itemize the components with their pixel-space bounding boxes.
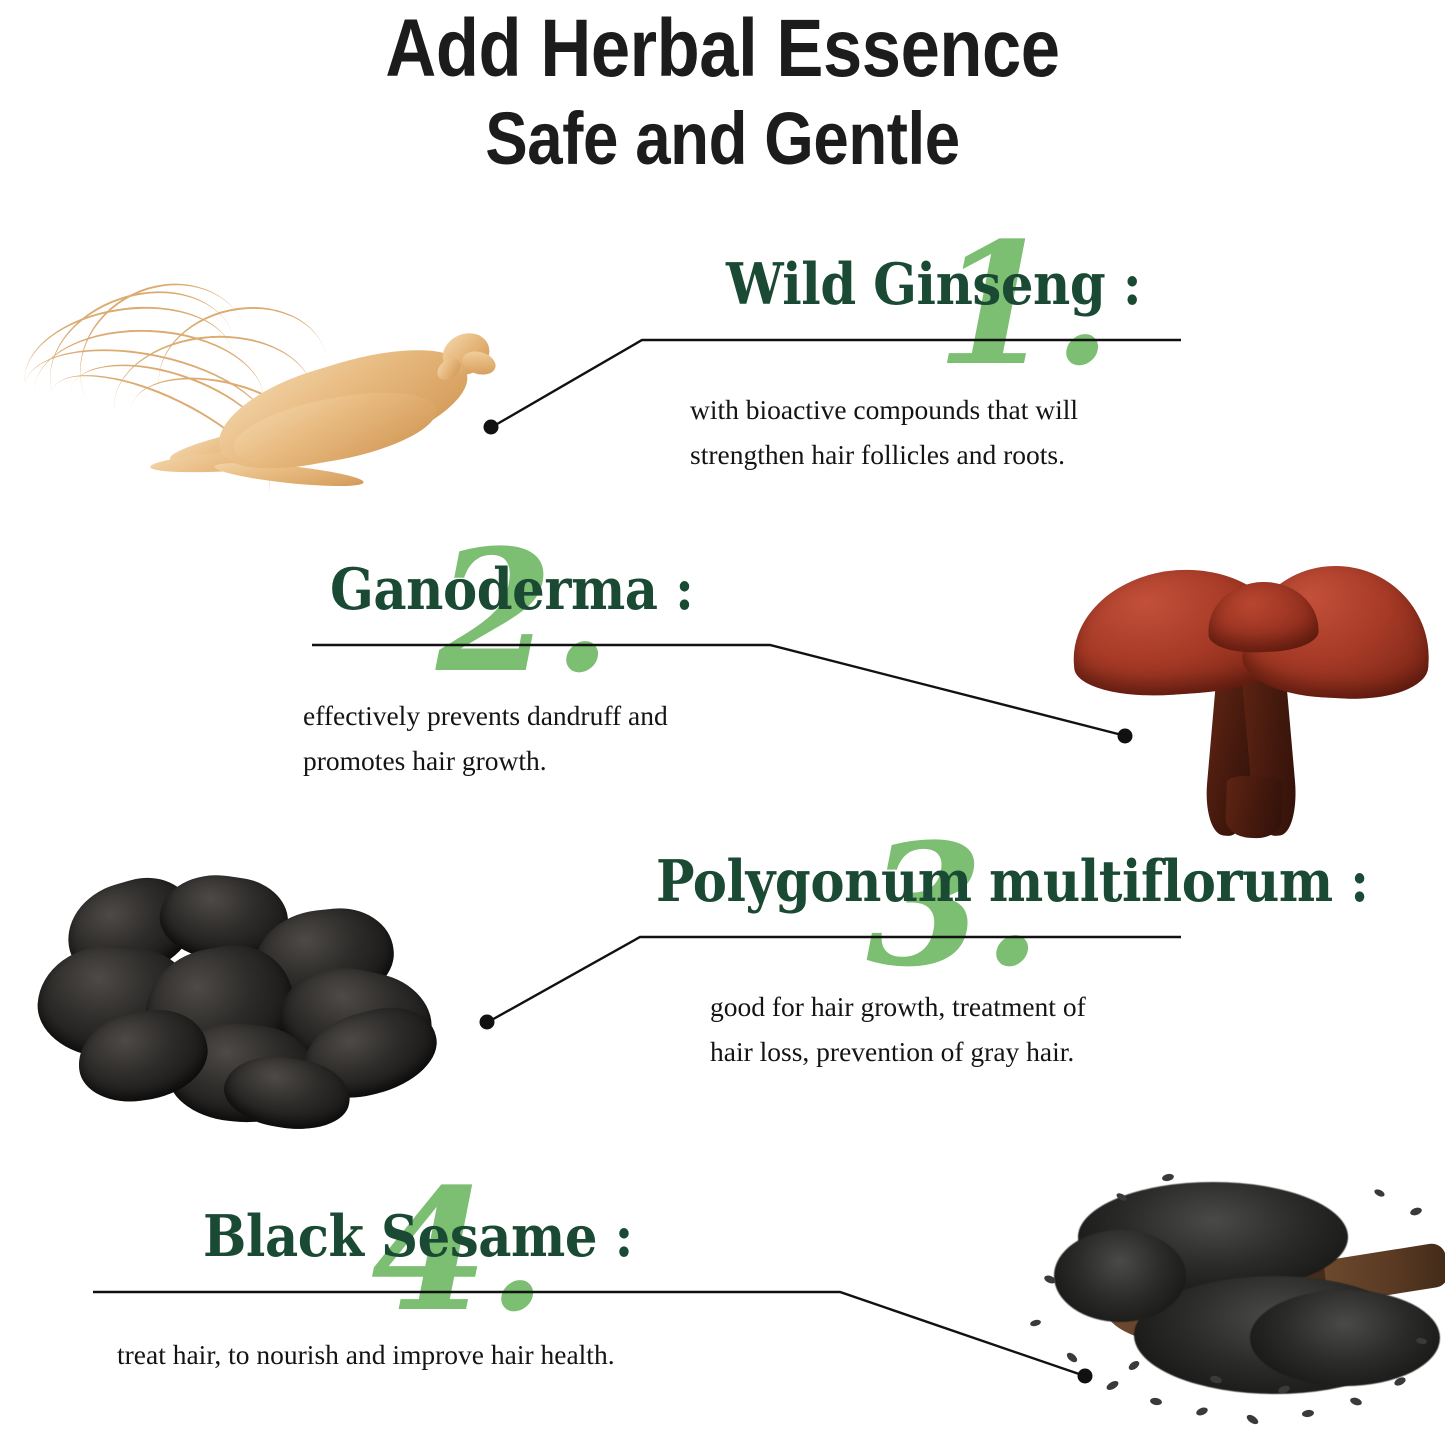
heading-black-sesame: 4. Black Sesame : [203,1208,681,1265]
ganoderma-reishi-mushroom-image [1058,548,1438,828]
section-ganoderma: 2. Ganoderma : [330,561,734,618]
heading-ganoderma: 2. Ganoderma : [330,561,734,618]
body-text-wild-ginseng: with bioactive compounds that will stren… [690,388,1210,477]
body-text-black-sesame: treat hair, to nourish and improve hair … [117,1333,817,1378]
heading-label-ganoderma: Ganoderma : [330,561,693,618]
body-text-polygonum-multiflorum: good for hair growth, treatment of hair … [710,985,1250,1074]
title-line-2: Safe and Gentle [101,102,1344,176]
heading-label-black-sesame: Black Sesame : [203,1208,633,1265]
heading-label-wild-ginseng: Wild Ginseng : [726,256,1141,313]
heading-label-polygonum-multiflorum: Polygonum multiflorum : [656,853,1369,910]
heading-polygonum-multiflorum: 3. Polygonum multiflorum : [656,853,1445,910]
section-wild-ginseng: 1. Wild Ginseng : [726,256,1187,313]
section-black-sesame: 4. Black Sesame : [203,1208,681,1265]
connector-dot-3 [480,1015,495,1030]
section-polygonum-multiflorum: 3. Polygonum multiflorum : [656,853,1445,910]
black-sesame-seeds-image [1010,1172,1445,1440]
body-text-ganoderma: effectively prevents dandruff and promot… [303,694,823,783]
wild-ginseng-root-image [18,278,488,528]
page-title: Add Herbal Essence Safe and Gentle [0,8,1445,176]
heading-wild-ginseng: 1. Wild Ginseng : [726,256,1187,313]
herbal-essence-infographic: Add Herbal Essence Safe and Gentle [0,0,1445,1445]
title-line-1: Add Herbal Essence [101,8,1344,90]
polygonum-multiflorum-slices-image [18,862,478,1130]
